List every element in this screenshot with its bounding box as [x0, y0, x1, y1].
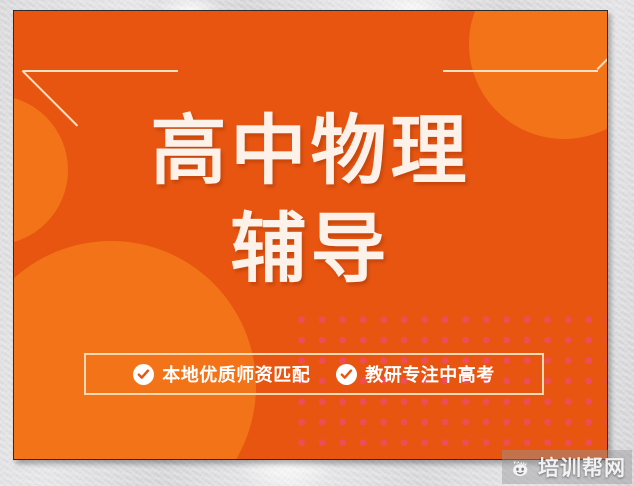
feature-badge-1-label: 本地优质师资匹配 — [162, 361, 310, 387]
feature-badge-2-label: 教研专注中高考 — [365, 361, 495, 387]
headline-line-secondary: 辅导 — [14, 211, 607, 287]
check-circle-icon — [336, 364, 357, 385]
bracket-left-horizontal-line — [23, 70, 178, 72]
bracket-right-horizontal-line — [443, 70, 598, 72]
check-circle-icon — [133, 364, 154, 385]
headline-line-primary: 高中物理 — [14, 113, 607, 189]
feature-badge-1: 本地优质师资匹配 — [133, 361, 310, 387]
feature-badge-2: 教研专注中高考 — [336, 361, 495, 387]
watermark-label: 培训帮网 — [538, 452, 626, 482]
poster-root: 高中物理 辅导 本地优质师资匹配 教研专注中高考 — [0, 0, 634, 486]
orange-poster-card: 高中物理 辅导 本地优质师资匹配 教研专注中高考 — [13, 10, 608, 460]
headline-block: 高中物理 辅导 — [14, 113, 607, 287]
watermark: 培训帮网 — [502, 450, 632, 484]
smiley-sun-logo-icon — [510, 457, 532, 477]
feature-badge-bar: 本地优质师资匹配 教研专注中高考 — [84, 353, 544, 395]
